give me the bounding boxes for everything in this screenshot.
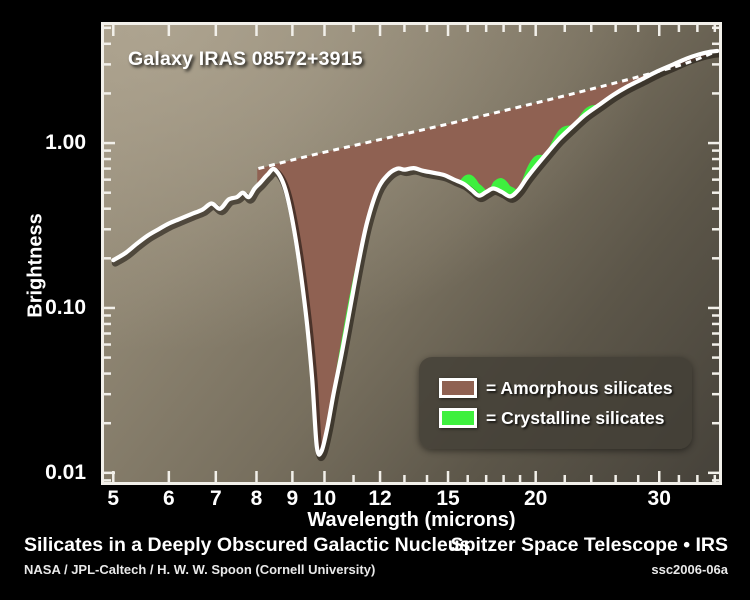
legend-swatch-crystalline [439,408,477,428]
chart-title: Galaxy IRAS 08572+3915 [128,48,363,71]
x-tick-5: 5 [107,487,119,511]
caption-title: Silicates in a Deeply Obscured Galactic … [24,534,471,557]
y-tick-1.00: 1.00 [45,131,86,155]
caption-credit: NASA / JPL-Caltech / H. W. W. Spoon (Cor… [24,562,375,577]
y-axis-title: Brightness [25,186,48,346]
x-tick-7: 7 [210,487,222,511]
legend-label-crystalline: = Crystalline silicates [486,408,665,429]
figure-root: Galaxy IRAS 08572+3915 567891012152030 1… [0,0,750,600]
x-tick-30: 30 [648,487,671,511]
x-tick-6: 6 [163,487,175,511]
x-tick-9: 9 [287,487,299,511]
y-tick-0.01: 0.01 [45,461,86,485]
x-tick-8: 8 [251,487,263,511]
caption-release-id: ssc2006-06a [651,562,728,577]
x-tick-12: 12 [368,487,391,511]
x-axis-title: Wavelength (microns) [101,509,722,532]
x-tick-10: 10 [313,487,336,511]
caption-observatory: Spitzer Space Telescope • IRS [451,534,728,557]
legend-item-crystalline: = Crystalline silicates [439,408,692,429]
legend-swatch-amorphous [439,378,477,398]
x-tick-20: 20 [524,487,547,511]
y-tick-0.10: 0.10 [45,296,86,320]
legend-item-amorphous: = Amorphous silicates [439,378,692,399]
legend: = Amorphous silicates = Crystalline sili… [419,357,692,449]
legend-label-amorphous: = Amorphous silicates [486,378,673,399]
x-tick-15: 15 [436,487,459,511]
